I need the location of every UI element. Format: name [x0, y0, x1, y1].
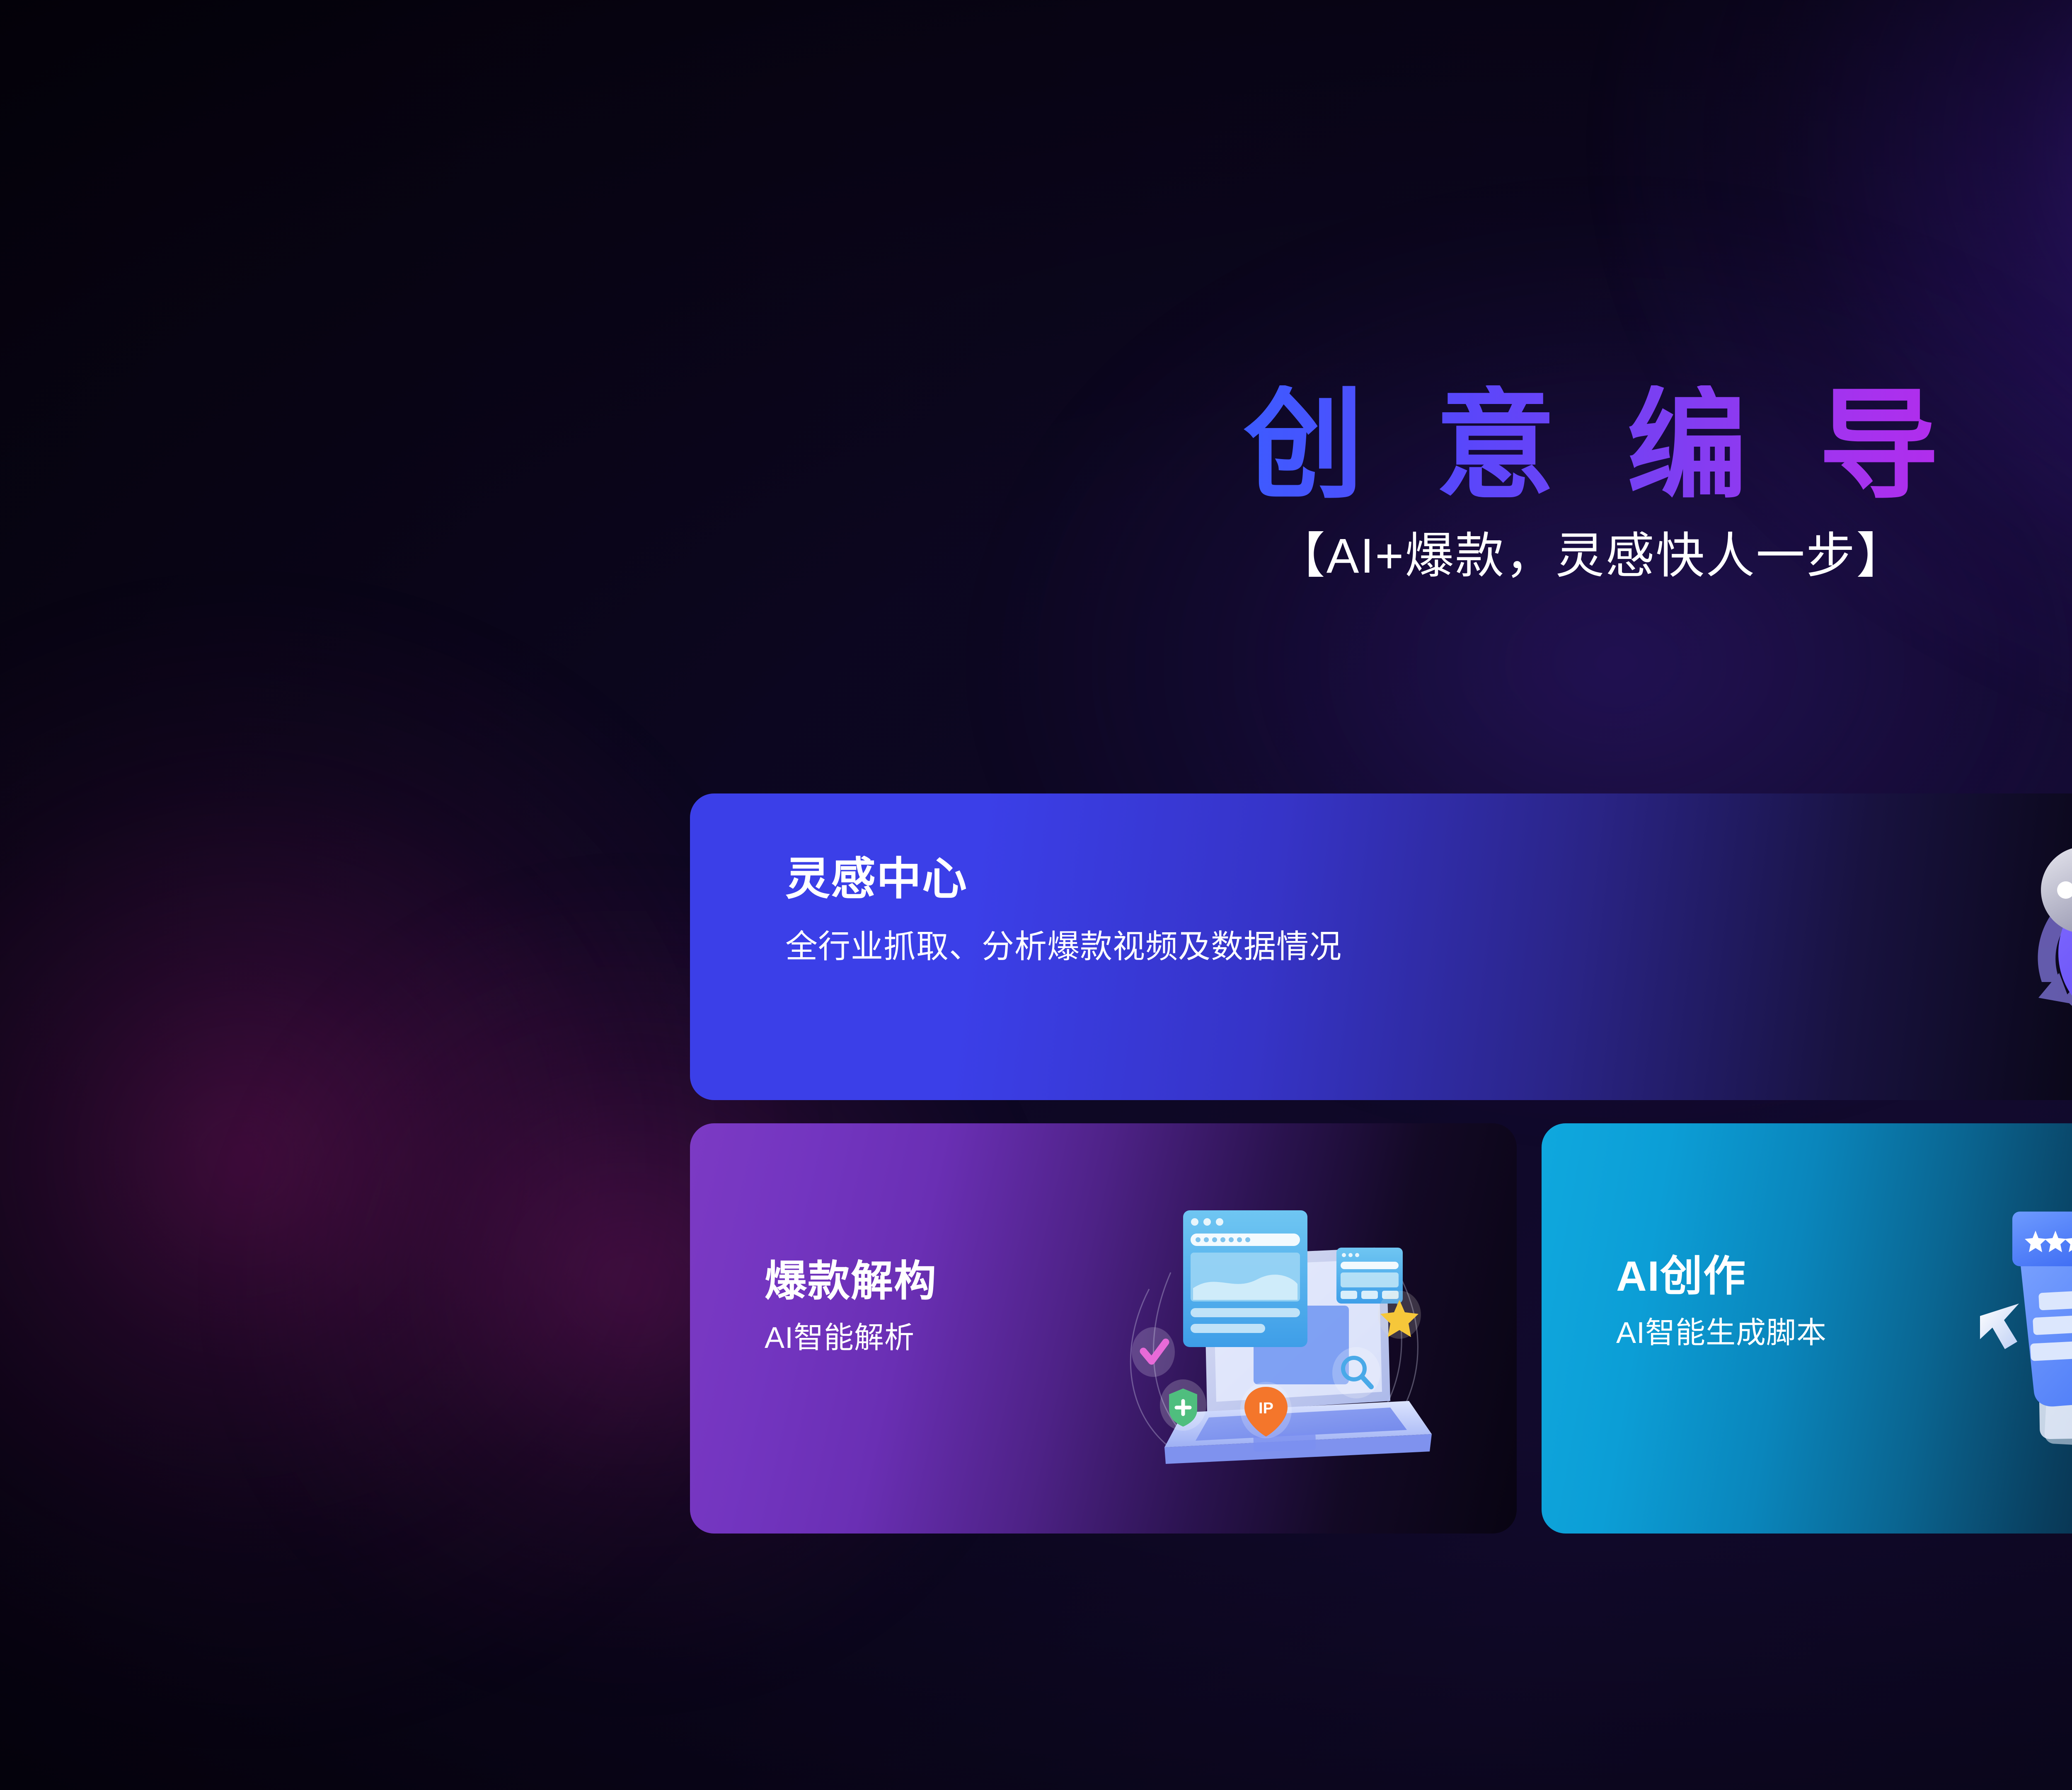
card-description: 全行业抓取、分析爆款视频及数据情况 — [785, 930, 1342, 963]
check-badge-icon — [1132, 1327, 1175, 1377]
slide-canvas: 摘星AI 科大讯飞生态伙伴 创 意 编 导 【AI+爆款，灵感快人一步】 灵感中… — [0, 0, 2072, 1790]
card-description: AI智能生成脚本 — [1616, 1318, 1827, 1348]
card-ai-creation[interactable]: AI创作 AI智能生成脚本 — [1542, 1123, 2072, 1534]
script-document-ai-icon: AI — [1973, 1179, 2072, 1494]
hero-heading-block: 创 意 编 导 【AI+爆款，灵感快人一步】 — [0, 385, 2072, 583]
laptop-browser-analysis-icon: IP — [1100, 1185, 1444, 1500]
card-description: AI智能解析 — [765, 1323, 915, 1353]
card-row-bottom: 爆款解构 AI智能解析 — [690, 1123, 2072, 1534]
card-hit-deconstruction[interactable]: 爆款解构 AI智能解析 — [690, 1123, 1517, 1534]
card-title: 灵感中心 — [785, 856, 968, 901]
ip-pin-badge-icon: IP — [1240, 1382, 1292, 1438]
shield-badge-icon — [1160, 1379, 1206, 1431]
feature-card-group: 灵感中心 全行业抓取、分析爆款视频及数据情况 — [690, 793, 2072, 1534]
search-badge-icon — [1332, 1347, 1380, 1398]
card-title: 爆款解构 — [765, 1260, 937, 1302]
card-title: AI创作 — [1616, 1255, 1746, 1297]
card-inspiration-center[interactable]: 灵感中心 全行业抓取、分析爆款视频及数据情况 — [690, 793, 2072, 1100]
star-badge-icon — [1378, 1291, 1421, 1339]
voice-waveform-refresh-icon — [1995, 816, 2072, 1073]
page-title: 创 意 编 导 — [1244, 385, 1958, 506]
svg-text:IP: IP — [1259, 1400, 1273, 1417]
page-subtitle: 【AI+爆款，灵感快人一步】 — [0, 530, 2072, 583]
